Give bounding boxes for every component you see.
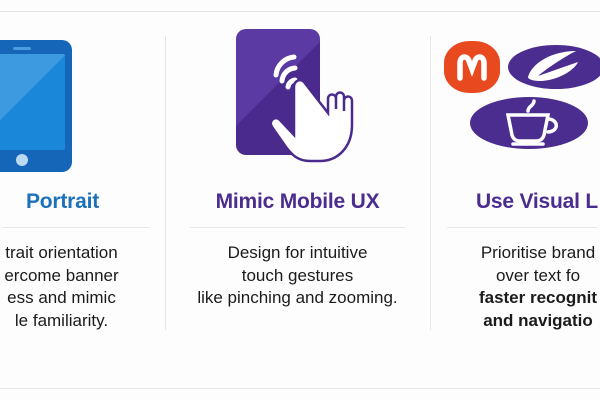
bottom-divider xyxy=(0,388,600,389)
nike-swoosh-logo xyxy=(508,45,600,89)
coffee-cup-icon xyxy=(470,97,588,149)
tap-hand-icon xyxy=(232,29,364,171)
mcdonalds-arches-icon xyxy=(455,51,489,83)
column-heading-portrait: Portrait xyxy=(26,191,99,212)
column-portrait: Portrait trait orientation ercome banner… xyxy=(0,12,165,388)
body-line: touch gestures xyxy=(197,265,397,288)
column-body-mimic-mobile-ux: Design for intuitive touch gestures like… xyxy=(197,242,397,310)
logos-icon-area xyxy=(430,12,600,187)
tablet-home-button xyxy=(16,154,28,166)
blue-tablet-icon xyxy=(0,40,72,172)
brand-logos-icon xyxy=(430,25,600,175)
mcdonalds-logo xyxy=(444,41,500,93)
infographic-canvas: Portrait trait orientation ercome banner… xyxy=(0,0,600,400)
tablet-screen xyxy=(0,54,65,150)
coffee-cup-logo xyxy=(470,97,588,149)
body-line: le familiarity. xyxy=(4,310,118,333)
body-line: faster recognit xyxy=(479,287,597,310)
heading-underline xyxy=(190,227,405,228)
body-line: ess and mimic xyxy=(4,287,118,310)
body-line: like pinching and zooming. xyxy=(197,287,397,310)
body-line: and navigatio xyxy=(479,310,597,333)
column-use-visual-logos: Use Visual L Prioritise brand over text … xyxy=(430,12,600,388)
column-heading-mimic-mobile-ux: Mimic Mobile UX xyxy=(216,191,380,212)
body-line: Prioritise brand xyxy=(479,242,597,265)
heading-underline xyxy=(2,227,150,228)
column-heading-use-visual-logos: Use Visual L xyxy=(476,191,598,212)
heading-underline xyxy=(447,227,597,228)
column-body-portrait: trait orientation ercome banner ess and … xyxy=(4,242,118,332)
tap-gesture-tablet-icon xyxy=(232,29,364,171)
tablet-speaker xyxy=(13,47,31,50)
column-mimic-mobile-ux: Mimic Mobile UX Design for intuitive tou… xyxy=(165,12,430,388)
body-line: ercome banner xyxy=(4,265,118,288)
column-body-use-visual-logos: Prioritise brand over text fo faster rec… xyxy=(479,242,597,332)
body-line: over text fo xyxy=(479,265,597,288)
body-line: trait orientation xyxy=(4,242,118,265)
column-divider-2 xyxy=(430,36,431,330)
column-divider-1 xyxy=(165,36,166,330)
columns-container: Portrait trait orientation ercome banner… xyxy=(0,12,600,388)
nike-swoosh-icon xyxy=(508,45,600,89)
body-line: Design for intuitive xyxy=(197,242,397,265)
mimic-icon-area xyxy=(165,12,430,187)
portrait-icon-area xyxy=(0,12,165,187)
